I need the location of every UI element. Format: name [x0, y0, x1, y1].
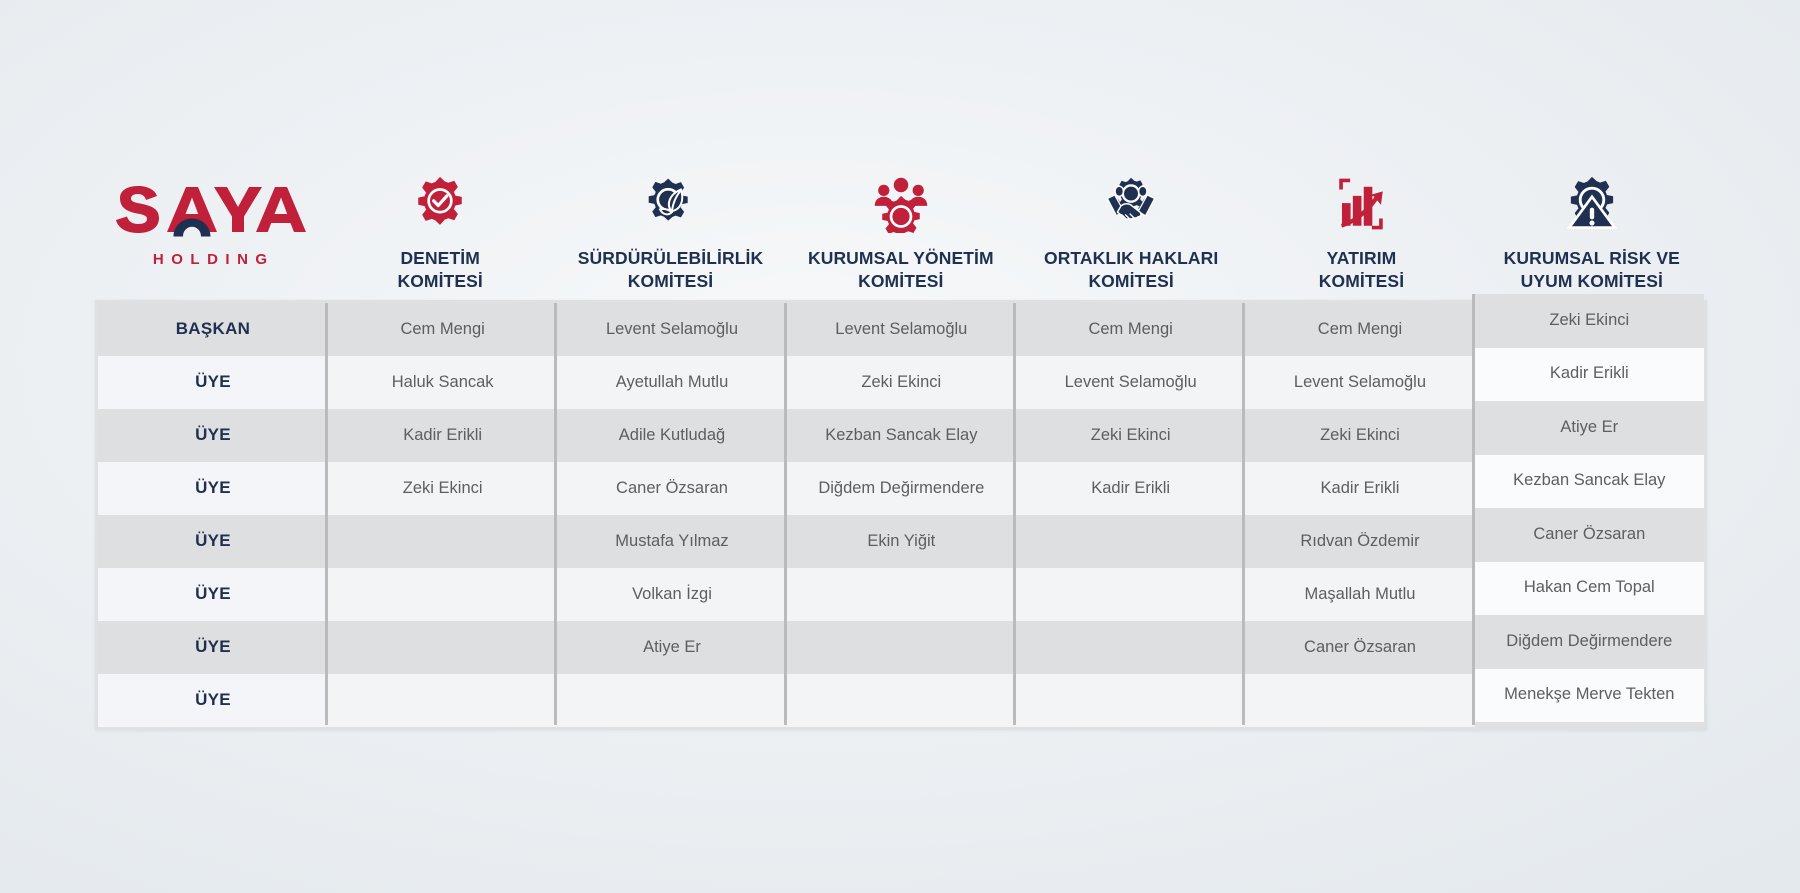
table-cell-member: Ayetullah Mutlu [557, 356, 786, 409]
committee-title: DENETİM KOMİTESİ [397, 247, 482, 292]
table-cell-role: ÜYE [98, 568, 328, 621]
table-cell-member: Diğdem Değirmendere [787, 462, 1016, 515]
committee-title-line2: UYUM KOMİTESİ [1521, 271, 1663, 291]
table-cell-member: Diğdem Değirmendere [1475, 615, 1704, 669]
table-cell-member: Kezban Sancak Elay [1475, 455, 1704, 509]
table-cell-member: Cem Mengi [1245, 303, 1474, 356]
people-gear-icon [871, 171, 931, 233]
committee-title-line1: SÜRDÜRÜLEBİLİRLİK [578, 248, 763, 268]
table-cell-member [1016, 621, 1245, 674]
table-cell-member: Caner Özsaran [557, 462, 786, 515]
table-cell-role: ÜYE [98, 409, 328, 462]
committee-title-line2: KOMİTESİ [858, 271, 943, 291]
table-cell-member: Zeki Ekinci [1245, 409, 1474, 462]
table-cell-member [328, 568, 557, 621]
table-column-kurumsal-risk: Zeki Ekinci Kadir Erikli Atiye Er Kezban… [1475, 294, 1704, 727]
table-column-roles: BAŞKAN ÜYE ÜYE ÜYE ÜYE ÜYE ÜYE ÜYE [98, 303, 328, 727]
committee-header-yatirim: YATIRIM KOMİTESİ [1246, 140, 1476, 300]
table-cell-member: Atiye Er [557, 621, 786, 674]
table-inner: BAŞKAN ÜYE ÜYE ÜYE ÜYE ÜYE ÜYE ÜYE Cem M… [98, 303, 1704, 727]
table-cell-member: Caner Özsaran [1245, 621, 1474, 674]
table-column-yatirim: Cem Mengi Levent Selamoğlu Zeki Ekinci K… [1245, 303, 1474, 727]
table-cell-role: ÜYE [98, 462, 328, 515]
committee-title-line1: YATIRIM [1327, 248, 1397, 268]
table-column-denetim: Cem Mengi Haluk Sancak Kadir Erikli Zeki… [328, 303, 557, 727]
growth-chart-icon [1332, 171, 1390, 233]
table-cell-member [328, 515, 557, 568]
table-cell-member: Menekşe Merve Tekten [1475, 669, 1704, 723]
committee-title-line1: ORTAKLIK HAKLARI [1044, 248, 1218, 268]
saya-holding-logo: HOLDING [95, 182, 325, 300]
table-cell-member: Zeki Ekinci [1016, 409, 1245, 462]
committee-title: KURUMSAL YÖNETİM KOMİTESİ [808, 247, 994, 292]
committee-title: YATIRIM KOMİTESİ [1319, 247, 1404, 292]
committee-header-surdurulebilirlik: SÜRDÜRÜLEBİLİRLİK KOMİTESİ [555, 140, 785, 300]
table-cell-member: Adile Kutludağ [557, 409, 786, 462]
table-cell-member: Volkan İzgi [557, 568, 786, 621]
table-cell-member: Levent Selamoğlu [557, 303, 786, 356]
table-cell-member: Zeki Ekinci [787, 356, 1016, 409]
table-cell-member: Levent Selamoğlu [1016, 356, 1245, 409]
table-cell-member [328, 674, 557, 727]
gear-leaf-icon [641, 171, 699, 233]
table-cell-member: Cem Mengi [328, 303, 557, 356]
table-cell-role: BAŞKAN [98, 303, 328, 356]
table-cell-member [787, 568, 1016, 621]
table-cell-member: Kadir Erikli [1475, 348, 1704, 402]
table-cell-member: Haluk Sancak [328, 356, 557, 409]
table-cell-member: Caner Özsaran [1475, 508, 1704, 562]
table-cell-role: ÜYE [98, 356, 328, 409]
table-column-surdurulebilirlik: Levent Selamoğlu Ayetullah Mutlu Adile K… [557, 303, 786, 727]
committee-header-ortaklik-haklari: ORTAKLIK HAKLARI KOMİTESİ [1016, 140, 1246, 300]
committee-title-line2: KOMİTESİ [1319, 271, 1404, 291]
table-cell-member: Levent Selamoğlu [787, 303, 1016, 356]
committee-title-line2: KOMİTESİ [628, 271, 713, 291]
handshake-icon [1101, 171, 1161, 233]
committee-title-line1: KURUMSAL YÖNETİM [808, 248, 994, 268]
table-cell-member [328, 621, 557, 674]
committee-header-row: HOLDING DENETİM KOMİTESİ [95, 140, 1707, 300]
table-cell-member: Maşallah Mutlu [1245, 568, 1474, 621]
committee-title: SÜRDÜRÜLEBİLİRLİK KOMİTESİ [578, 247, 763, 292]
table-cell-member: Kadir Erikli [328, 409, 557, 462]
committee-header-kurumsal-risk: KURUMSAL RİSK VE UYUM KOMİTESİ [1477, 140, 1707, 300]
table-cell-member: Mustafa Yılmaz [557, 515, 786, 568]
table-cell-member [787, 674, 1016, 727]
committee-title: ORTAKLIK HAKLARI KOMİTESİ [1044, 247, 1218, 292]
table-column-kurumsal-yonetim: Levent Selamoğlu Zeki Ekinci Kezban Sanc… [787, 303, 1016, 727]
table-cell-member [1016, 674, 1245, 727]
table-cell-member: Hakan Cem Topal [1475, 562, 1704, 616]
committee-header-denetim: DENETİM KOMİTESİ [325, 140, 555, 300]
table-cell-member [1245, 674, 1474, 727]
gear-warning-icon [1563, 171, 1621, 233]
table-cell-member: Kezban Sancak Elay [787, 409, 1016, 462]
table-column-ortaklik-haklari: Cem Mengi Levent Selamoğlu Zeki Ekinci K… [1016, 303, 1245, 727]
committee-members-table: BAŞKAN ÜYE ÜYE ÜYE ÜYE ÜYE ÜYE ÜYE Cem M… [95, 300, 1707, 730]
table-cell-member [557, 674, 786, 727]
logo-tagline: HOLDING [145, 251, 274, 268]
committee-title-line2: KOMİTESİ [1088, 271, 1173, 291]
table-cell-member: Kadir Erikli [1245, 462, 1474, 515]
committee-title-line2: KOMİTESİ [397, 271, 482, 291]
table-cell-member: Atiye Er [1475, 401, 1704, 455]
table-cell-role: ÜYE [98, 621, 328, 674]
committee-header-kurumsal-yonetim: KURUMSAL YÖNETİM KOMİTESİ [786, 140, 1016, 300]
table-cell-role: ÜYE [98, 674, 328, 727]
table-cell-member: Rıdvan Özdemir [1245, 515, 1474, 568]
logo-wordmark [110, 182, 310, 246]
saya-logo-svg [110, 182, 310, 246]
table-cell-member: Kadir Erikli [1016, 462, 1245, 515]
table-cell-member: Zeki Ekinci [328, 462, 557, 515]
table-cell-member: Ekin Yiğit [787, 515, 1016, 568]
table-cell-member: Levent Selamoğlu [1245, 356, 1474, 409]
committee-chart-page: HOLDING DENETİM KOMİTESİ [0, 0, 1800, 893]
table-cell-member: Cem Mengi [1016, 303, 1245, 356]
table-cell-member [787, 621, 1016, 674]
table-cell-role: ÜYE [98, 515, 328, 568]
table-cell-member: Zeki Ekinci [1475, 294, 1704, 348]
committee-title-line1: DENETİM [400, 248, 479, 268]
committee-title: KURUMSAL RİSK VE UYUM KOMİTESİ [1504, 247, 1680, 292]
table-cell-member [1016, 515, 1245, 568]
table-cell-member [1016, 568, 1245, 621]
gear-check-icon [411, 171, 469, 233]
committee-title-line1: KURUMSAL RİSK VE [1504, 248, 1680, 268]
